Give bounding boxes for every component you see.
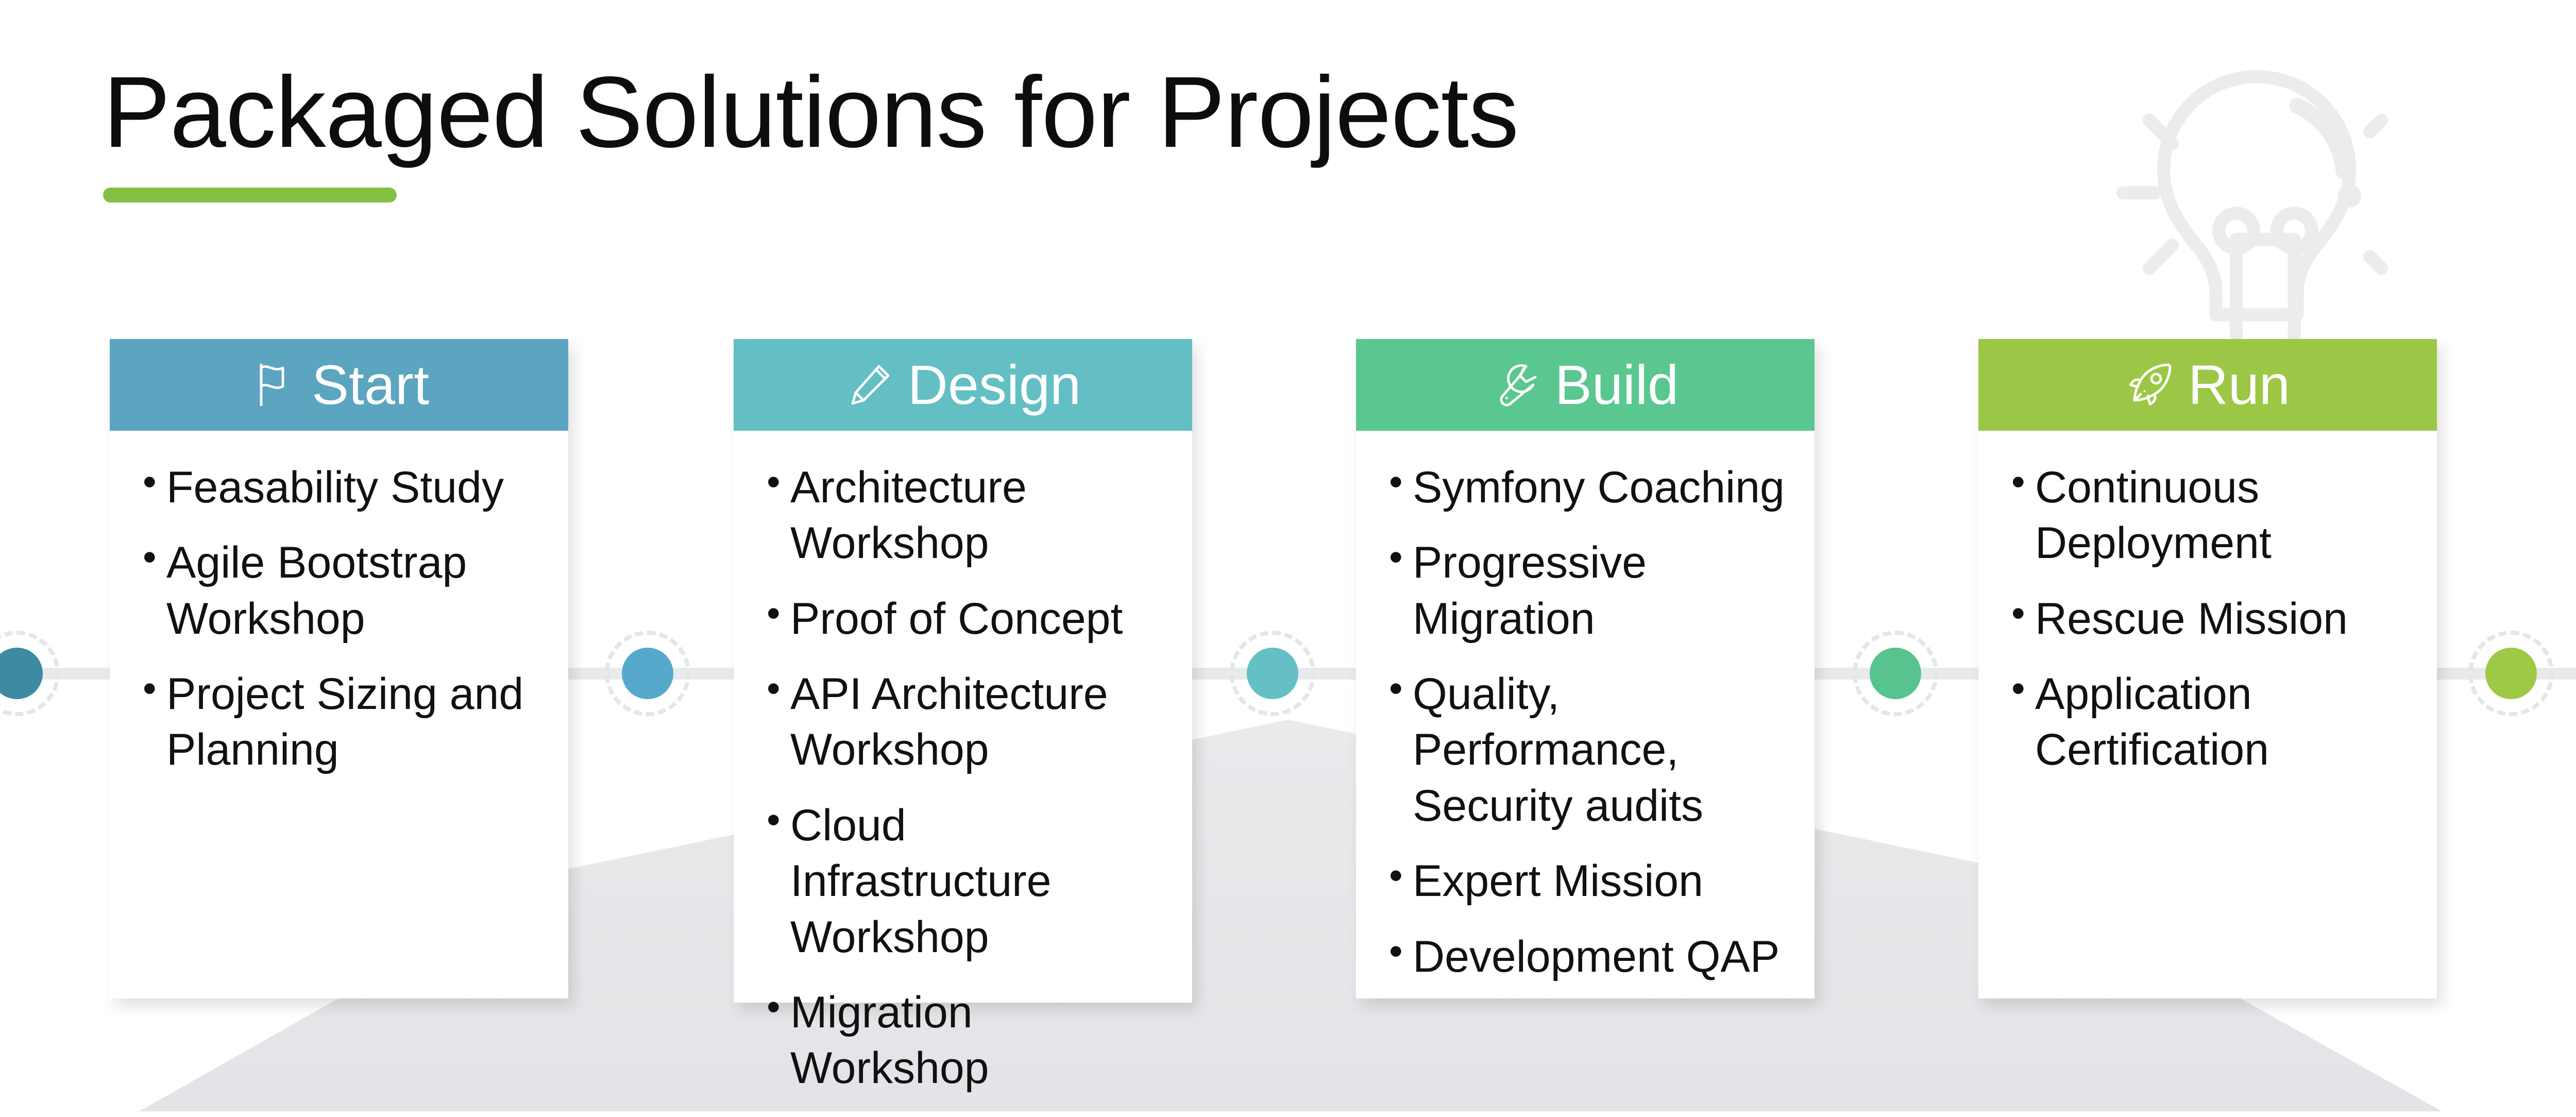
stage-card-run[interactable]: RunContinuous DeploymentRescue MissionAp…	[1978, 339, 2437, 998]
list-item: API Architecture Workshop	[764, 666, 1162, 778]
list-item: Quality, Performance, Security audits	[1386, 666, 1785, 834]
list-item: Rescue Mission	[2008, 591, 2407, 647]
lightbulb-icon	[2092, 36, 2421, 356]
lightbulb-glyph	[2092, 36, 2421, 356]
list-item: Expert Mission	[1386, 853, 1785, 909]
card-title-start: Start	[312, 357, 429, 413]
wrench-icon	[1492, 360, 1541, 410]
list-item: Symfony Coaching	[1386, 460, 1785, 515]
card-header-start: Start	[110, 339, 568, 431]
list-item: Progressive Migration	[1386, 535, 1785, 647]
stage-card-build[interactable]: BuildSymfony CoachingProgressive Migrati…	[1356, 339, 1815, 998]
card-header-design: Design	[734, 339, 1192, 431]
stage-card-design[interactable]: DesignArchitecture WorkshopProof of Conc…	[734, 339, 1192, 1003]
rocket-icon	[2125, 360, 2175, 410]
card-body-run: Continuous DeploymentRescue MissionAppli…	[1978, 431, 2437, 799]
offer-list-run: Continuous DeploymentRescue MissionAppli…	[2008, 460, 2407, 778]
list-item: Project Sizing and Planning	[140, 666, 538, 778]
offer-list-start: Feasability StudyAgile Bootstrap Worksho…	[140, 460, 538, 778]
card-body-start: Feasability StudyAgile Bootstrap Worksho…	[110, 431, 568, 799]
list-item: Feasability Study	[140, 460, 538, 515]
list-item: Architecture Workshop	[764, 460, 1162, 571]
title-block: Packaged Solutions for Projects	[103, 62, 2009, 202]
list-item: Cloud Infrastructure Workshop	[764, 798, 1162, 965]
node-dot	[622, 648, 673, 699]
card-title-build: Build	[1555, 357, 1679, 413]
pencil-icon	[845, 360, 894, 410]
node-dot	[2485, 648, 2537, 699]
offer-list-design: Architecture WorkshopProof of ConceptAPI…	[764, 460, 1162, 1096]
list-item: Agile Bootstrap Workshop	[140, 535, 538, 647]
card-body-build: Symfony CoachingProgressive MigrationQua…	[1356, 431, 1815, 1005]
offer-list-build: Symfony CoachingProgressive MigrationQua…	[1386, 460, 1785, 985]
page-title: Packaged Solutions for Projects	[103, 62, 2009, 163]
flag-icon	[249, 360, 298, 410]
list-item: Continuous Deployment	[2008, 460, 2407, 571]
card-body-design: Architecture WorkshopProof of ConceptAPI…	[734, 431, 1192, 1117]
card-title-design: Design	[908, 357, 1081, 413]
node-dot	[1870, 648, 1921, 699]
card-title-run: Run	[2188, 357, 2290, 413]
list-item: Proof of Concept	[764, 591, 1162, 647]
list-item: Development QAP	[1386, 929, 1785, 985]
list-item: Migration Workshop	[764, 985, 1162, 1096]
node-dot	[1247, 648, 1298, 699]
card-header-run: Run	[1978, 339, 2437, 431]
card-header-build: Build	[1356, 339, 1815, 431]
title-accent-bar	[103, 188, 397, 202]
stage-card-start[interactable]: StartFeasability StudyAgile Bootstrap Wo…	[110, 339, 568, 998]
list-item: Application Certification	[2008, 666, 2407, 778]
